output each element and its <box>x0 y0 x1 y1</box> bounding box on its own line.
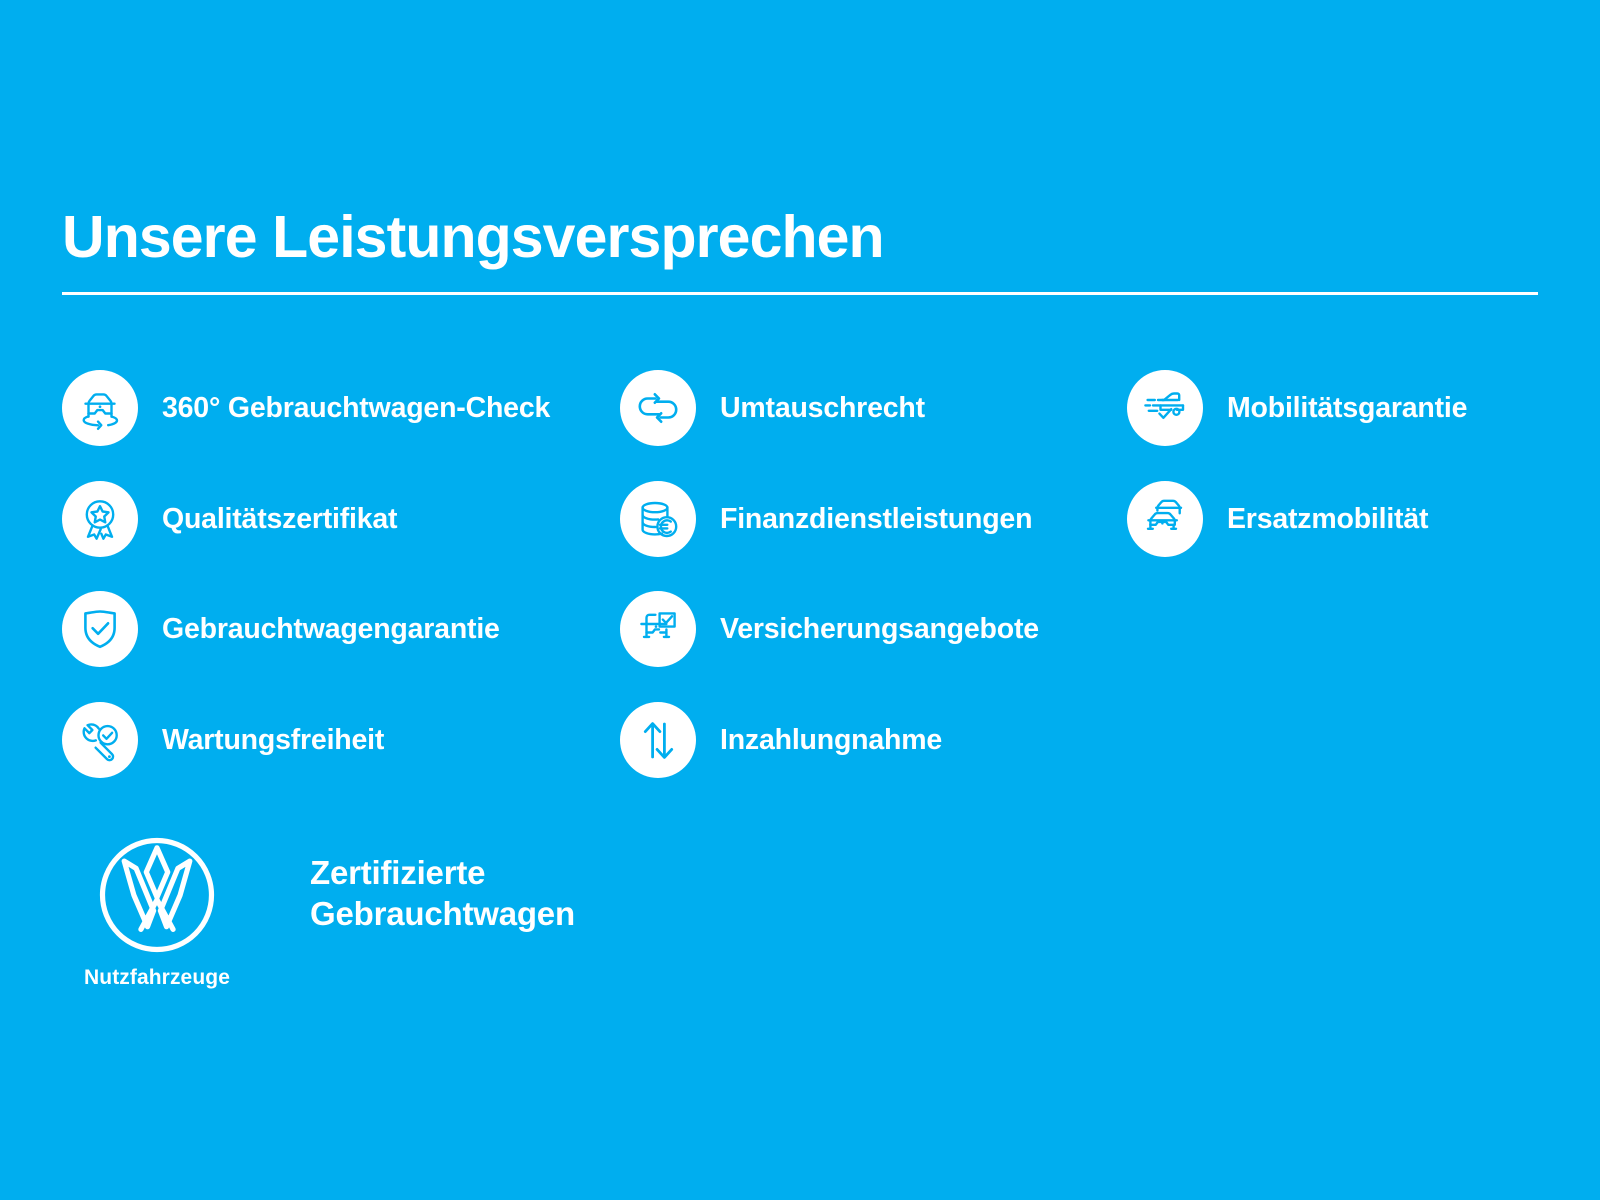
promise-item-insurance-offers[interactable]: Versicherungsangebote <box>620 588 1039 670</box>
promise-label: Wartungsfreiheit <box>162 724 384 757</box>
promise-item-quality-certificate[interactable]: Qualitätszertifikat <box>62 478 397 560</box>
title-divider <box>62 292 1538 295</box>
exchange-arrows-icon <box>620 370 696 446</box>
promise-label: Ersatzmobilität <box>1227 503 1428 536</box>
brand-claim-line-2: Gebrauchtwagen <box>310 893 575 934</box>
page-title: Unsere Leistungsversprechen <box>62 207 1538 269</box>
two-cars-icon <box>1127 481 1203 557</box>
promise-item-financial-services[interactable]: Finanzdienstleistungen <box>620 478 1032 560</box>
promise-label: 360° Gebrauchtwagen-Check <box>162 392 550 425</box>
promise-item-exchange-right[interactable]: Umtauschrecht <box>620 367 925 449</box>
car-speed-check-icon <box>1127 370 1203 446</box>
slide-canvas: Unsere Leistungsversprechen <box>0 0 1600 1200</box>
promise-label: Finanzdienstleistungen <box>720 503 1032 536</box>
brand-claim-line-1: Zertifizierte <box>310 852 575 893</box>
promise-item-maintenance-free[interactable]: Wartungsfreiheit <box>62 699 384 781</box>
shield-check-icon <box>62 591 138 667</box>
brand-claim: Zertifizierte Gebrauchtwagen <box>310 852 575 935</box>
promise-item-mobility-guarantee[interactable]: Mobilitätsgarantie <box>1127 367 1467 449</box>
van-checkbox-icon <box>620 591 696 667</box>
promise-label: Qualitätszertifikat <box>162 503 397 536</box>
promise-item-replacement-mobility[interactable]: Ersatzmobilität <box>1127 478 1428 560</box>
promise-item-used-car-warranty[interactable]: Gebrauchtwagengarantie <box>62 588 500 670</box>
title-block: Unsere Leistungsversprechen <box>62 207 1538 295</box>
car-360-rotation-icon <box>62 370 138 446</box>
wrench-check-icon <box>62 702 138 778</box>
brand-lockup: Nutzfahrzeuge Zertifizierte Gebrauchtwag… <box>62 836 575 990</box>
volkswagen-logo <box>98 836 216 954</box>
promise-label: Inzahlungnahme <box>720 724 942 757</box>
coins-euro-icon <box>620 481 696 557</box>
promise-item-360-check[interactable]: 360° Gebrauchtwagen-Check <box>62 367 550 449</box>
award-rosette-star-icon <box>62 481 138 557</box>
promise-label: Mobilitätsgarantie <box>1227 392 1467 425</box>
promise-label: Versicherungsangebote <box>720 613 1039 646</box>
arrows-up-down-icon <box>620 702 696 778</box>
brand-mark: Nutzfahrzeuge <box>62 836 252 990</box>
promise-label: Umtauschrecht <box>720 392 925 425</box>
brand-sub-label: Nutzfahrzeuge <box>84 966 230 990</box>
promise-item-trade-in[interactable]: Inzahlungnahme <box>620 699 942 781</box>
promise-label: Gebrauchtwagengarantie <box>162 613 500 646</box>
